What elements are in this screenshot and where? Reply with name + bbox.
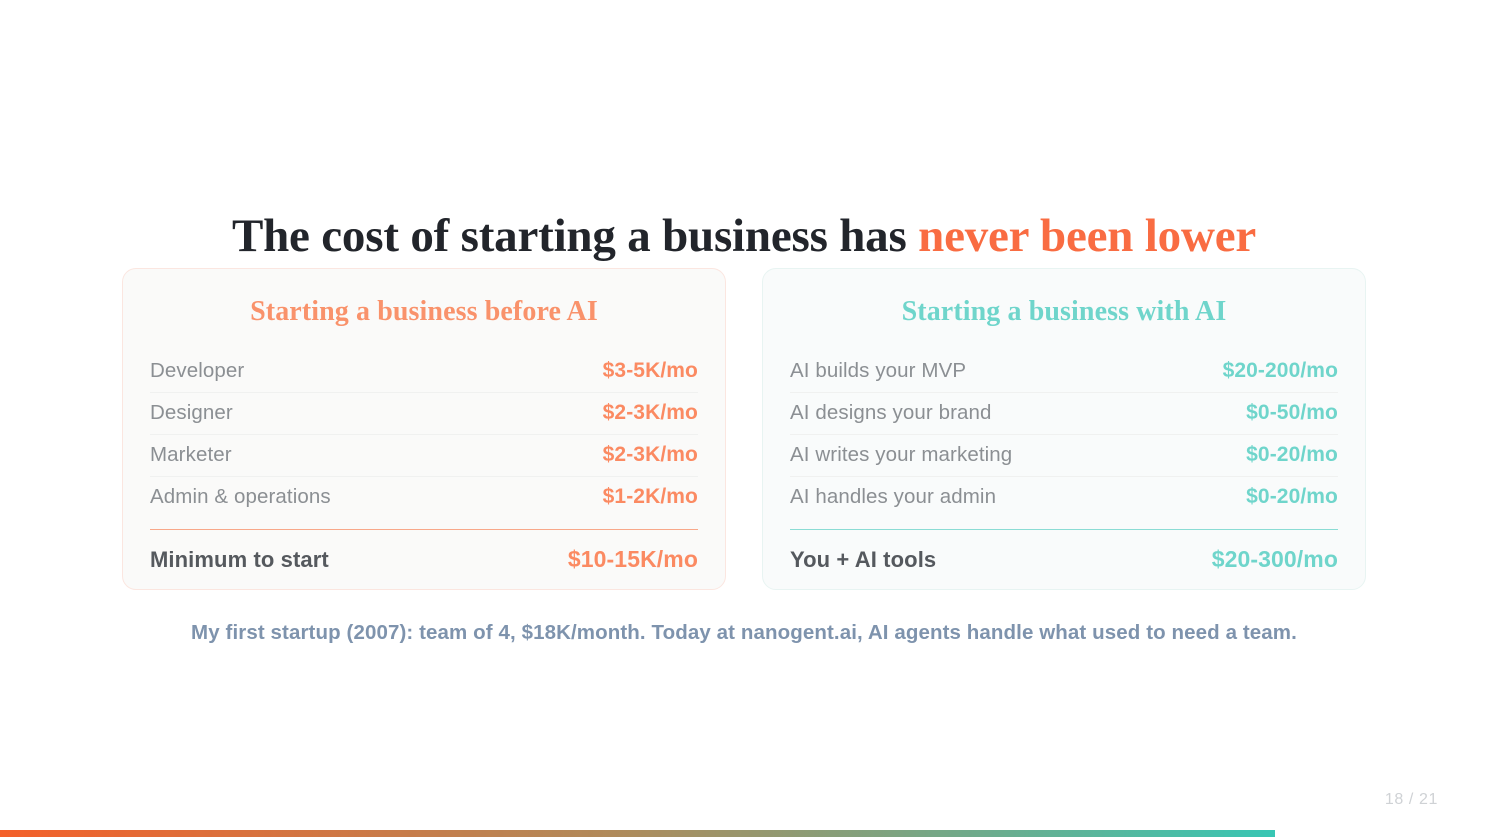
row-label: Marketer (150, 443, 232, 467)
row-value: $0-50/mo (1246, 401, 1338, 425)
table-row: AI designs your brand $0-50/mo (790, 393, 1338, 435)
total-label: You + AI tools (790, 547, 936, 573)
card-before-ai: Starting a business before AI Developer … (122, 268, 726, 590)
card-with-ai-total-row: You + AI tools $20-300/mo (790, 530, 1338, 573)
row-label: AI writes your marketing (790, 443, 1012, 467)
card-with-ai-title: Starting a business with AI (790, 296, 1338, 328)
table-row: AI writes your marketing $0-20/mo (790, 435, 1338, 477)
row-value: $0-20/mo (1246, 485, 1338, 509)
card-before-ai-total-row: Minimum to start $10-15K/mo (150, 530, 698, 573)
slide: The cost of starting a business has neve… (0, 0, 1488, 837)
row-value: $2-3K/mo (603, 401, 698, 425)
bottom-gradient-bar (0, 830, 1275, 837)
table-row: Developer $3-5K/mo (150, 351, 698, 393)
slide-caption: My first startup (2007): team of 4, $18K… (0, 621, 1488, 645)
comparison-cards: Starting a business before AI Developer … (122, 268, 1366, 590)
page-number: 18 / 21 (1385, 791, 1438, 809)
total-value: $10-15K/mo (568, 546, 698, 573)
row-value: $1-2K/mo (603, 485, 698, 509)
total-value: $20-300/mo (1212, 546, 1338, 573)
card-before-ai-title: Starting a business before AI (150, 296, 698, 328)
card-before-ai-rows: Developer $3-5K/mo Designer $2-3K/mo Mar… (150, 351, 698, 518)
card-with-ai-rows: AI builds your MVP $20-200/mo AI designs… (790, 351, 1338, 518)
page-title-accent: never been lower (918, 210, 1256, 262)
total-label: Minimum to start (150, 547, 329, 573)
row-value: $20-200/mo (1223, 359, 1338, 383)
row-value: $0-20/mo (1246, 443, 1338, 467)
row-label: AI handles your admin (790, 485, 996, 509)
page-title-lead: The cost of starting a business has (232, 210, 918, 262)
row-value: $3-5K/mo (603, 359, 698, 383)
table-row: AI handles your admin $0-20/mo (790, 477, 1338, 518)
card-with-ai: Starting a business with AI AI builds yo… (762, 268, 1366, 590)
row-label: AI designs your brand (790, 401, 992, 425)
row-value: $2-3K/mo (603, 443, 698, 467)
row-label: Admin & operations (150, 485, 331, 509)
table-row: Admin & operations $1-2K/mo (150, 477, 698, 518)
table-row: AI builds your MVP $20-200/mo (790, 351, 1338, 393)
page-title: The cost of starting a business has neve… (0, 209, 1488, 263)
row-label: Designer (150, 401, 233, 425)
table-row: Designer $2-3K/mo (150, 393, 698, 435)
table-row: Marketer $2-3K/mo (150, 435, 698, 477)
row-label: AI builds your MVP (790, 359, 966, 383)
row-label: Developer (150, 359, 244, 383)
